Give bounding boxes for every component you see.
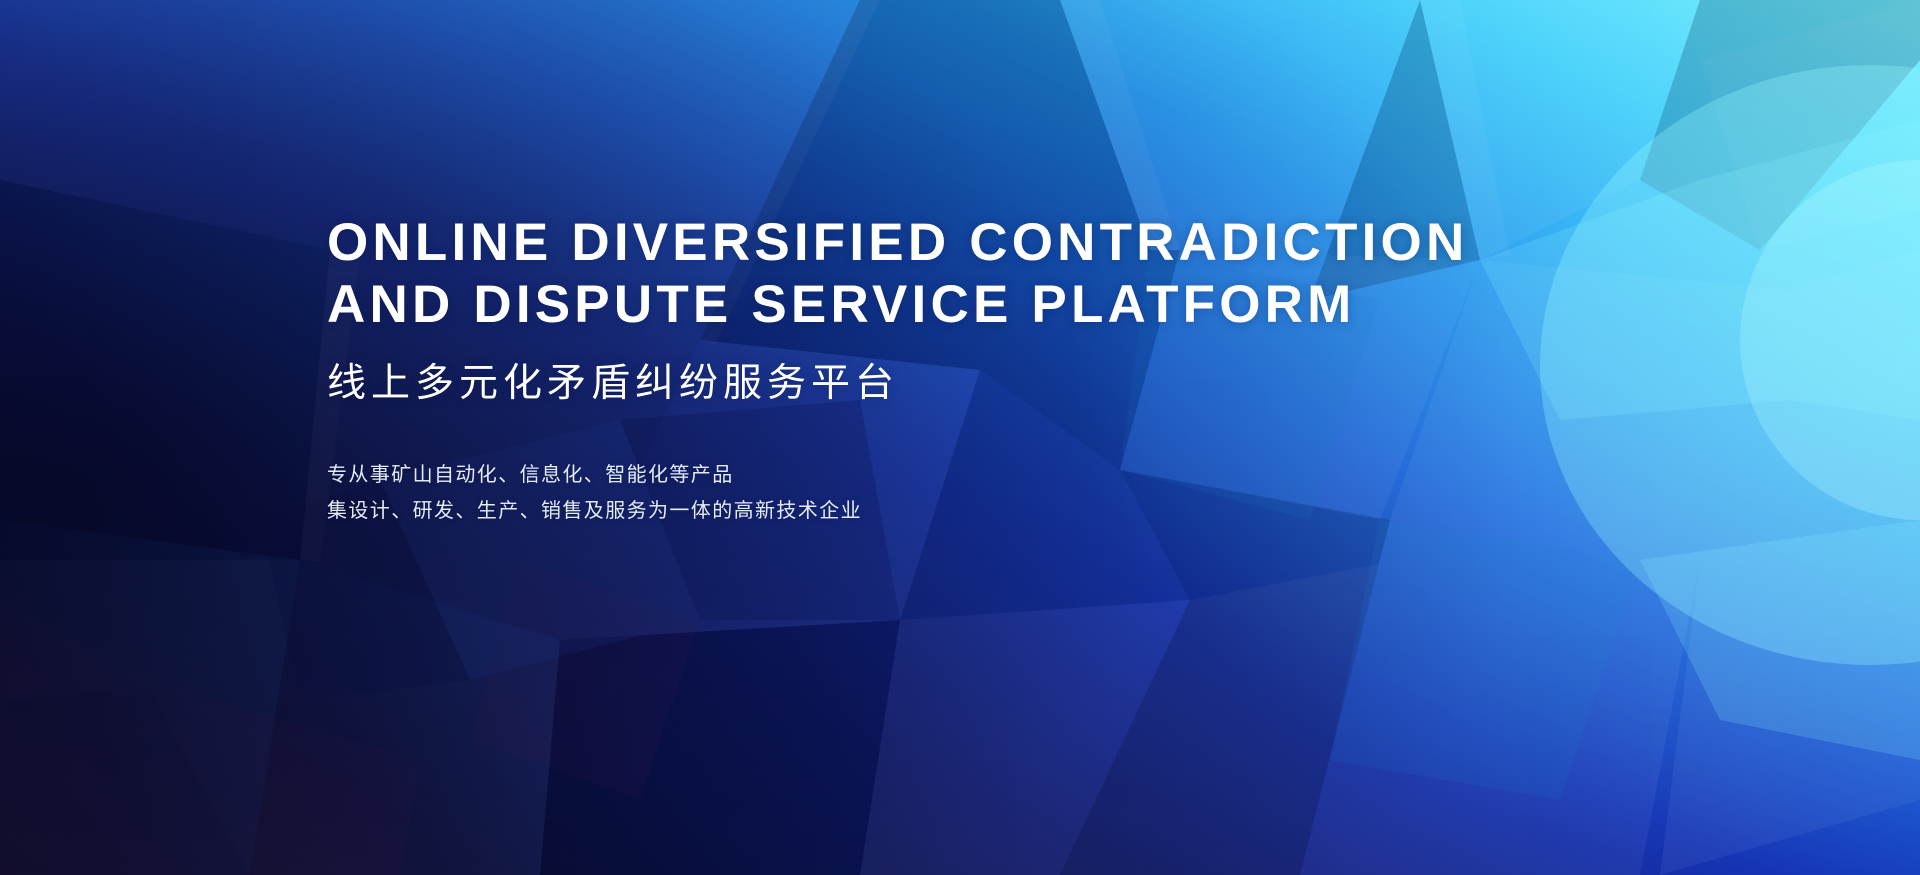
body-line-2: 集设计、研发、生产、销售及服务为一体的高新技术企业 — [327, 493, 1468, 529]
hero-banner: ONLINE DIVERSIFIED CONTRADICTION AND DIS… — [0, 0, 1920, 875]
headline-line-2: AND DISPUTE SERVICE PLATFORM — [327, 274, 1468, 336]
headline-line-1: ONLINE DIVERSIFIED CONTRADICTION — [327, 212, 1468, 274]
body-copy-list: 专从事矿山自动化、信息化、智能化等产品 集设计、研发、生产、销售及服务为一体的高… — [327, 457, 1468, 529]
body-line-1: 专从事矿山自动化、信息化、智能化等产品 — [327, 457, 1468, 493]
subtitle-chinese: 线上多元化矛盾纠纷服务平台 — [327, 362, 1468, 406]
hero-copy-block: ONLINE DIVERSIFIED CONTRADICTION AND DIS… — [327, 212, 1468, 529]
